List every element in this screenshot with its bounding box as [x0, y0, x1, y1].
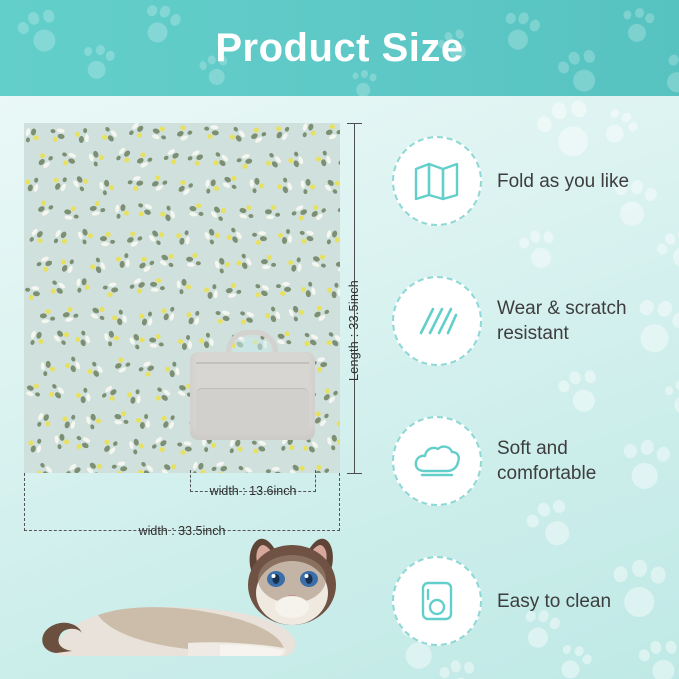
fabric-motif [87, 197, 111, 221]
bag-zipper [196, 362, 309, 364]
cat-illustration [38, 515, 368, 679]
laptop-sleeve-bag [190, 330, 315, 440]
fabric-motif [24, 281, 42, 302]
fabric-motif [146, 331, 168, 353]
fabric-motif [320, 123, 340, 145]
fabric-motif [222, 123, 250, 148]
fabric-motif [246, 123, 274, 149]
fabric-motif [24, 223, 50, 251]
fabric-motif [333, 351, 340, 378]
fabric-motif [305, 198, 333, 226]
fabric-motif [55, 145, 81, 171]
fabric-motif [247, 277, 274, 304]
fabric-motif [131, 196, 157, 222]
fabric-motif [334, 462, 340, 473]
fabric-motif [210, 304, 234, 328]
fabric-motif [283, 146, 309, 172]
fabric-motif [157, 143, 185, 171]
fabric-motif [73, 124, 94, 145]
fabric-motif [162, 357, 185, 380]
fabric-motif [322, 431, 340, 455]
feature-label: Soft and comfortable [497, 416, 669, 506]
fabric-motif [156, 457, 184, 473]
fabric-motif [70, 325, 96, 351]
fabric-motif [172, 123, 199, 146]
fabric-motif [181, 305, 206, 330]
fabric-motif [156, 200, 181, 225]
fabric-motif [95, 176, 118, 199]
fabric-motif [110, 201, 132, 223]
fabric-motif [24, 432, 48, 457]
fabric-motif [283, 301, 309, 327]
bag-pocket [196, 388, 309, 435]
fabric-motif [147, 276, 168, 297]
fabric-motif [73, 384, 96, 407]
fabric-motif [55, 251, 82, 278]
fabric-motif [260, 301, 286, 327]
fabric-motif [32, 194, 59, 221]
fabric-motif [99, 327, 123, 351]
fabric-motif [295, 123, 320, 143]
fabric-motif [61, 202, 83, 224]
fabric-motif [284, 253, 307, 276]
scratch-lines-icon [392, 276, 482, 366]
feature-item: Easy to clean [392, 548, 667, 679]
fabric-motif [42, 376, 70, 404]
fabric-motif [146, 169, 173, 196]
fabric-motif [24, 172, 45, 197]
fabric-motif [132, 147, 159, 174]
fabric-motif [148, 380, 176, 408]
fabric-motif [108, 305, 132, 329]
fabric-motif [157, 301, 182, 326]
fabric-motif [173, 226, 196, 249]
feature-list: Fold as you like Wear & scratch resistan… [392, 128, 667, 679]
fabric-motif [200, 123, 222, 142]
fabric-motif [73, 224, 98, 249]
feature-item: Wear & scratch resistant [392, 268, 667, 408]
fabric-motif [45, 123, 69, 146]
fabric-motif [83, 146, 109, 172]
fabric-motif [235, 201, 259, 225]
fabric-motif [181, 145, 208, 172]
feature-item: Soft and comfortable [392, 408, 667, 548]
fabric-motif [95, 380, 123, 408]
fabric-motif [218, 170, 245, 197]
washing-machine-icon [392, 556, 482, 646]
fabric-motif [232, 149, 257, 174]
fabric-motif [147, 123, 173, 147]
fabric-motif [249, 227, 270, 248]
fabric-motif [297, 278, 320, 301]
fabric-motif [319, 173, 340, 201]
fabric-motif [97, 432, 125, 460]
header-banner: Product Size [0, 0, 679, 96]
fabric-motif [173, 276, 195, 298]
fabric-motif [259, 252, 280, 273]
fabric-motif [233, 304, 259, 330]
fabric-motif [133, 355, 160, 382]
fabric-motif [143, 224, 171, 252]
fabric-motif [123, 385, 145, 407]
fabric-motif [24, 326, 49, 352]
fabric-motif [30, 456, 58, 473]
fabric-motif [172, 173, 200, 201]
fabric-motif [294, 224, 318, 248]
fabric-motif [43, 273, 71, 301]
fabric-motif [307, 249, 333, 275]
product-size-infographic: Product Size Length : 33.5inch width : 1… [0, 0, 679, 679]
fabric-motif [275, 226, 295, 246]
fabric-motif [324, 279, 340, 301]
fabric-motif [259, 146, 287, 174]
fabric-motif [155, 247, 182, 274]
fabric-motif [81, 410, 106, 435]
fabric-motif [122, 123, 150, 146]
feature-label: Fold as you like [497, 136, 669, 226]
fabric-motif [81, 456, 109, 473]
fabric-motif [320, 226, 340, 250]
fabric-motif [333, 253, 340, 276]
fabric-motif [273, 278, 293, 298]
feature-item: Fold as you like [392, 128, 667, 268]
fabric-motif [82, 355, 110, 383]
fabric-motif [145, 431, 173, 459]
fabric-motif [97, 230, 118, 251]
fabric-motif [38, 306, 59, 327]
fabric-motif [201, 280, 223, 302]
fabric-motif [85, 252, 112, 279]
fabric-motif [99, 278, 121, 300]
fabric-motif [108, 457, 131, 473]
fabric-motif [113, 249, 134, 270]
cloud-icon [392, 416, 482, 506]
page-title: Product Size [0, 0, 679, 96]
fabric-motif [50, 431, 72, 453]
folded-map-icon [392, 136, 482, 226]
length-dimension-label: Length : 33.5inch [347, 280, 369, 381]
fabric-motif [30, 407, 57, 434]
fabric-motif [36, 358, 57, 379]
fabric-motif [134, 410, 154, 430]
fabric-motif [24, 123, 43, 147]
fabric-motif [222, 279, 246, 303]
fabric-motif [110, 407, 134, 431]
fabric-motif [272, 172, 298, 198]
fabric-motif [263, 203, 284, 224]
fabric-motif [308, 299, 336, 327]
fabric-motif [245, 175, 267, 197]
feature-label: Wear & scratch resistant [497, 276, 669, 366]
fabric-motif [199, 224, 225, 250]
fabric-motif [220, 221, 247, 248]
feature-label: Easy to clean [497, 556, 669, 646]
fabric-motif [122, 171, 147, 196]
length-cap-top [347, 123, 362, 124]
length-cap-bottom [347, 473, 362, 474]
fabric-motif [269, 123, 296, 146]
fabric-motif [297, 176, 319, 198]
fabric-motif [206, 145, 234, 173]
fabric-motif [68, 171, 96, 199]
fabric-motif [318, 325, 340, 353]
fabric-motif [46, 225, 73, 252]
fabric-motif [71, 275, 94, 298]
fabric-motif [183, 250, 204, 271]
fabric-motif [123, 273, 150, 300]
